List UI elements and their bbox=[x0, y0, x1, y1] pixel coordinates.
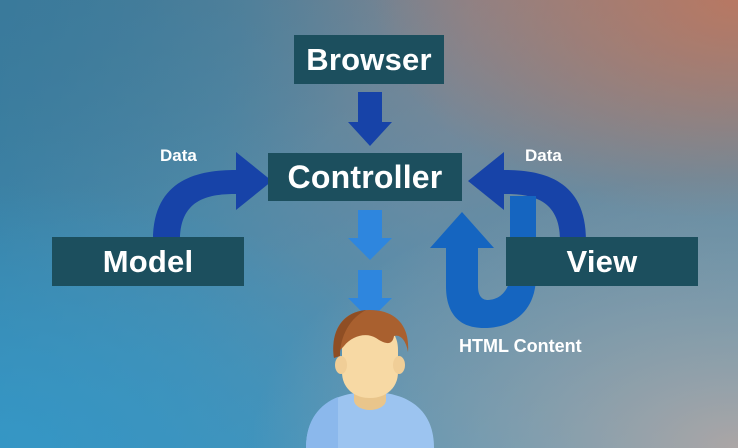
node-model[interactable]: Model bbox=[52, 237, 244, 286]
avatar-ear-right bbox=[393, 356, 405, 374]
arrow-controller-to-user-1 bbox=[348, 210, 392, 260]
avatar-face bbox=[342, 322, 398, 398]
arrow-browser-to-controller bbox=[348, 92, 392, 146]
avatar-body bbox=[306, 310, 434, 448]
avatar-shirt bbox=[306, 392, 434, 448]
edge-label-html-content: HTML Content bbox=[459, 336, 582, 357]
edge-label-data-left: Data bbox=[160, 146, 197, 166]
avatar-hair bbox=[333, 310, 408, 358]
avatar-shirt-shadow bbox=[306, 397, 338, 448]
edge-label-data-right: Data bbox=[525, 146, 562, 166]
node-browser[interactable]: Browser bbox=[294, 35, 444, 84]
arrow-controller-to-user-2 bbox=[348, 270, 392, 320]
avatar-neck bbox=[354, 370, 386, 410]
diagram-canvas: Browser Controller Model View Data Data … bbox=[0, 0, 738, 448]
avatar-hair-shadow bbox=[333, 310, 366, 358]
node-view[interactable]: View bbox=[506, 237, 698, 286]
node-controller[interactable]: Controller bbox=[268, 153, 462, 201]
avatar-ear-left bbox=[335, 356, 347, 374]
